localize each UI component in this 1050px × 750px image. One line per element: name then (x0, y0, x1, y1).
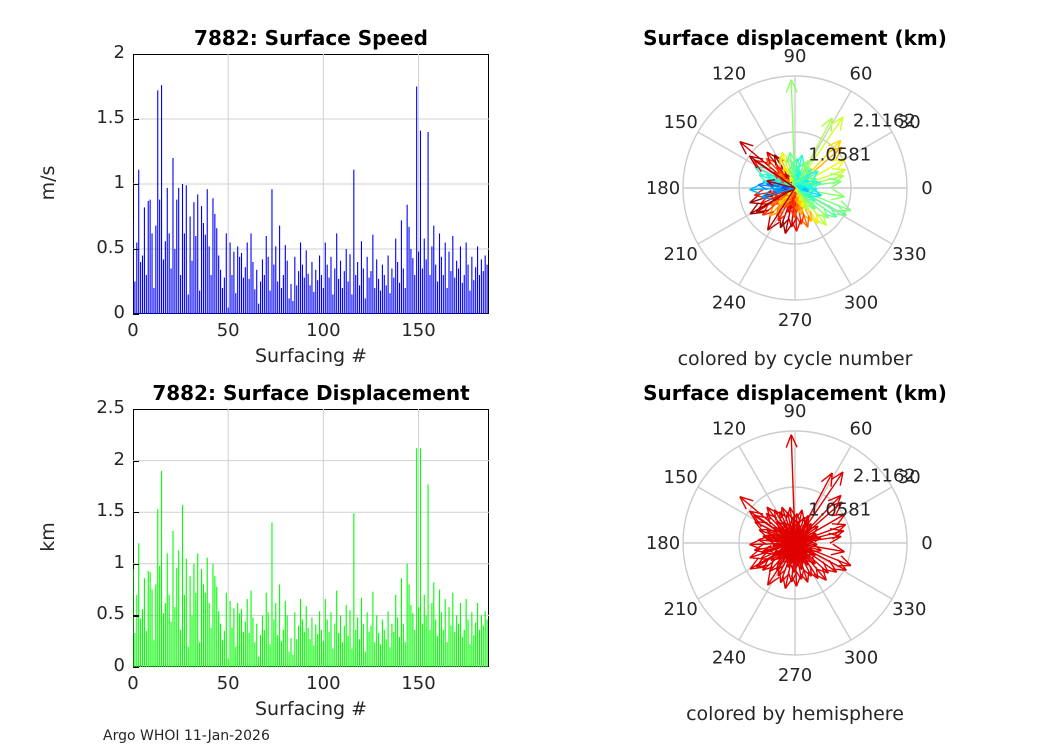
surface-displacement-ytick: 1 (0, 552, 125, 573)
polar-angle-tick: 270 (778, 665, 812, 683)
surface-speed-ytick: 0.5 (0, 237, 125, 258)
polar-cycle-caption: colored by cycle number (595, 348, 995, 370)
polar-angle-tick: 240 (712, 292, 746, 313)
surface-displacement-ytick-mark (133, 564, 139, 565)
polar-cycle-title: Surface displacement (km) (595, 26, 995, 50)
polar-angle-tick: 330 (892, 599, 926, 620)
surface-displacement-ytick-mark (133, 667, 139, 668)
surface-speed-ytick: 1 (0, 172, 125, 193)
polar-hemisphere-caption: colored by hemisphere (595, 703, 995, 725)
polar-angle-tick: 240 (712, 647, 746, 668)
surface-speed-xtick: 50 (188, 320, 268, 341)
surface-displacement-xtick: 50 (188, 673, 268, 694)
polar-angle-tick: 210 (664, 244, 698, 265)
polar-hemisphere-title: Surface displacement (km) (595, 381, 995, 405)
polar-angle-tick: 90 (784, 403, 807, 422)
surface-displacement-ytick: 1.5 (0, 500, 125, 521)
polar-angle-tick: 330 (892, 244, 926, 265)
polar-angle-tick: 0 (921, 533, 932, 554)
surface-speed-ytick-mark (133, 314, 139, 315)
surface-speed-xtick: 150 (379, 320, 459, 341)
surface-displacement-ytick: 2.5 (0, 397, 125, 418)
surface-displacement-bars (133, 409, 489, 667)
polar-angle-tick: 300 (844, 647, 878, 668)
surface-displacement-xtick: 100 (283, 673, 363, 694)
surface-speed-ytick-mark (133, 184, 139, 185)
polar-angle-tick: 180 (646, 178, 680, 199)
surface-displacement-ytick-mark (133, 512, 139, 513)
polar-radial-tick: 1.0581 (808, 144, 871, 165)
polar-angle-tick: 150 (664, 467, 698, 488)
polar-angle-tick: 0 (921, 178, 932, 199)
polar-angle-tick: 60 (850, 64, 873, 85)
figure-footer: Argo WHOI 11-Jan-2026 (103, 728, 270, 744)
surface-displacement-ytick-mark (133, 615, 139, 616)
polar-angle-tick: 270 (778, 310, 812, 328)
polar-radial-tick: 1.0581 (808, 499, 871, 520)
surface-displacement-ytick-mark (133, 409, 139, 410)
surface-displacement-xlabel: Surfacing # (133, 698, 489, 720)
surface-displacement-ytick: 0.5 (0, 603, 125, 624)
polar-radial-tick: 2.1162 (853, 466, 916, 487)
polar-cycle-plot: 03060901201501802102402703003301.05812.1… (615, 48, 975, 328)
surface-speed-ytick-mark (133, 119, 139, 120)
polar-hemisphere-plot: 03060901201501802102402703003301.05812.1… (615, 403, 975, 683)
surface-displacement-ytick: 2 (0, 449, 125, 470)
surface-displacement-xtick: 150 (379, 673, 459, 694)
polar-angle-tick: 90 (784, 48, 807, 67)
polar-angle-tick: 60 (850, 419, 873, 440)
polar-angle-tick: 120 (712, 419, 746, 440)
surface-speed-bars (133, 54, 489, 314)
surface-speed-title: 7882: Surface Speed (133, 26, 489, 50)
polar-angle-tick: 120 (712, 64, 746, 85)
surface-displacement-xtick: 0 (93, 673, 173, 694)
surface-speed-xtick: 0 (93, 320, 173, 341)
surface-speed-ytick-mark (133, 249, 139, 250)
surface-displacement-ytick-mark (133, 461, 139, 462)
surface-speed-xlabel: Surfacing # (133, 345, 489, 367)
surface-speed-xtick: 100 (283, 320, 363, 341)
polar-angle-tick: 150 (664, 112, 698, 133)
surface-speed-ytick: 1.5 (0, 107, 125, 128)
polar-angle-tick: 180 (646, 533, 680, 554)
surface-displacement-title: 7882: Surface Displacement (133, 381, 489, 405)
polar-angle-tick: 300 (844, 292, 878, 313)
surface-speed-ytick: 2 (0, 42, 125, 63)
polar-radial-tick: 2.1162 (853, 111, 916, 132)
surface-speed-ytick-mark (133, 54, 139, 55)
polar-angle-tick: 210 (664, 599, 698, 620)
